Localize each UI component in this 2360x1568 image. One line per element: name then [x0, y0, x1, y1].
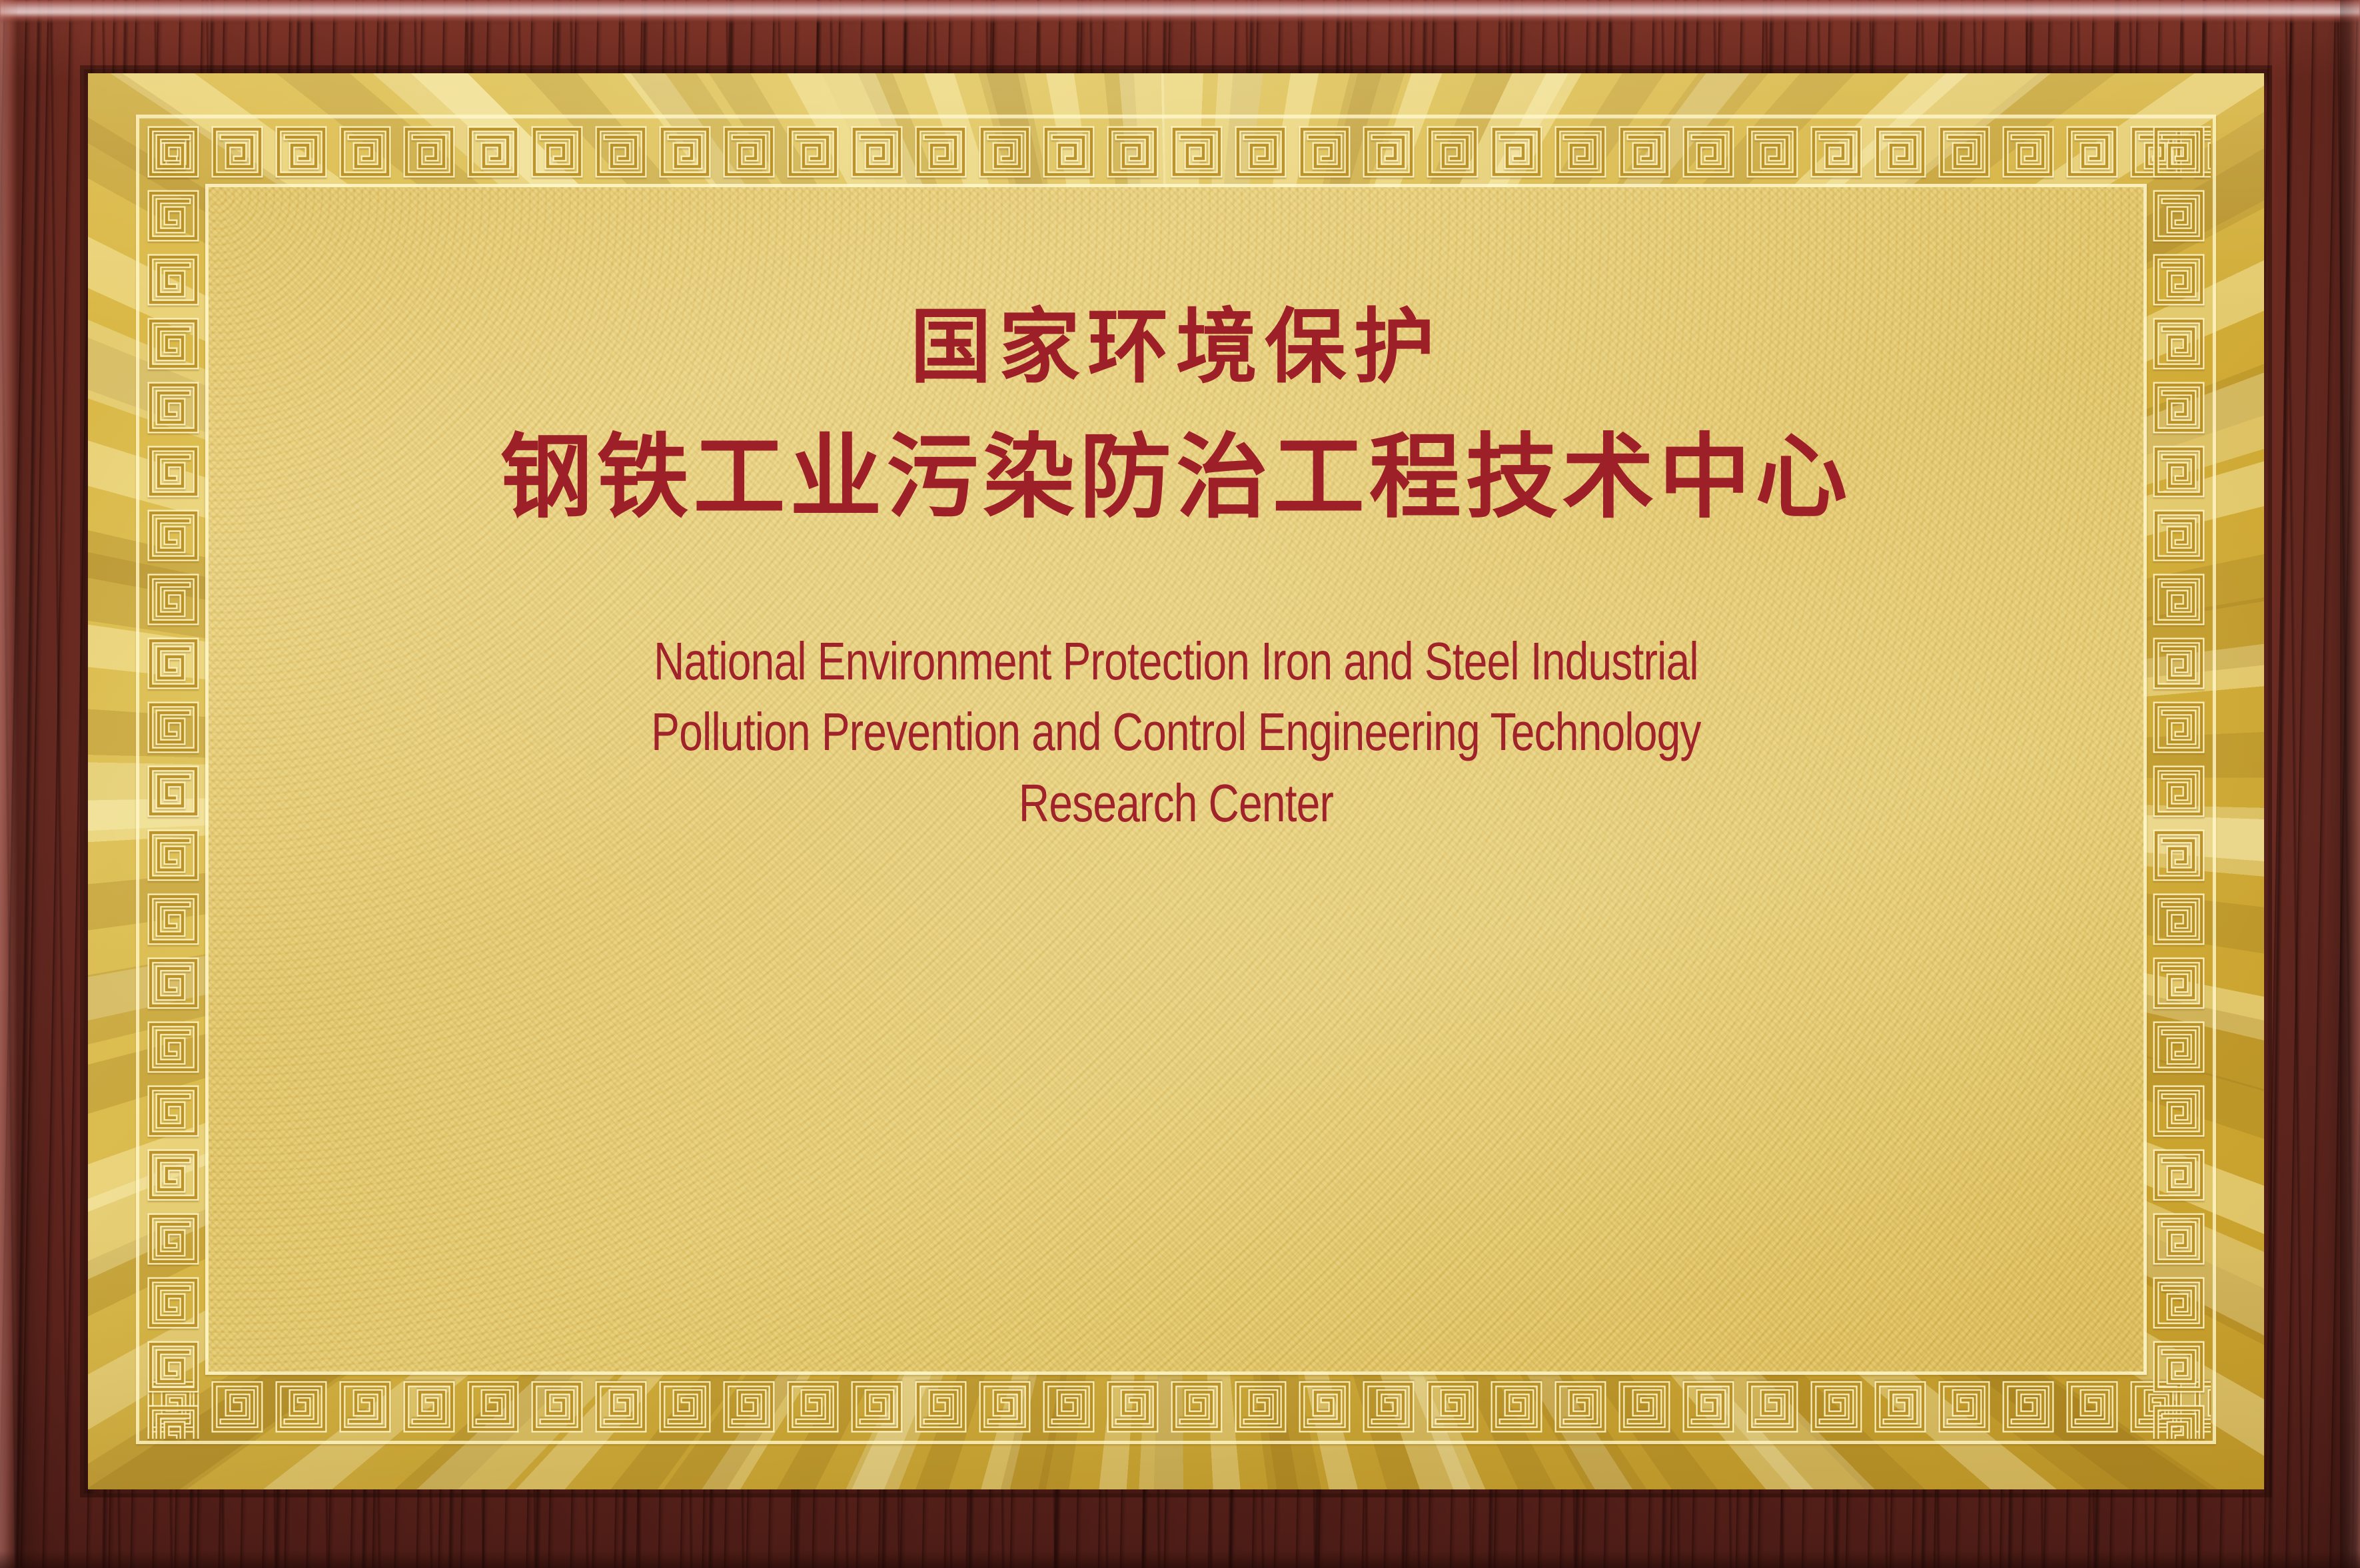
frame-left-bevel	[0, 0, 17, 1568]
english-subtitle-line-1: National Environment Protection Iron and…	[402, 626, 1950, 697]
plaque-text-stack: 国家环境保护 钢铁工业污染防治工程技术中心 National Environme…	[209, 187, 2143, 839]
chinese-title-line-1: 国家环境保护	[209, 304, 2143, 390]
english-subtitle: National Environment Protection Iron and…	[402, 626, 1950, 839]
award-plaque: 国家环境保护 钢铁工业污染防治工程技术中心 National Environme…	[0, 0, 2360, 1568]
meander-border-left	[141, 120, 205, 1439]
english-subtitle-line-3: Research Center	[402, 768, 1950, 839]
plaque-inner-field: 国家环境保护 钢铁工业污染防治工程技术中心 National Environme…	[209, 187, 2143, 1372]
gold-plate: 国家环境保护 钢铁工业污染防治工程技术中心 National Environme…	[88, 73, 2264, 1489]
meander-border-top	[141, 120, 2211, 184]
meander-border-bottom	[141, 1375, 2211, 1439]
frame-bottom-bevel	[0, 1551, 2360, 1568]
frame-top-bevel-highlight	[0, 0, 2360, 23]
meander-border-right	[2147, 120, 2211, 1439]
chinese-title-line-2: 钢铁工业污染防治工程技术中心	[209, 430, 2143, 526]
english-subtitle-line-2: Pollution Prevention and Control Enginee…	[402, 697, 1950, 767]
frame-right-bevel	[2340, 0, 2360, 1568]
